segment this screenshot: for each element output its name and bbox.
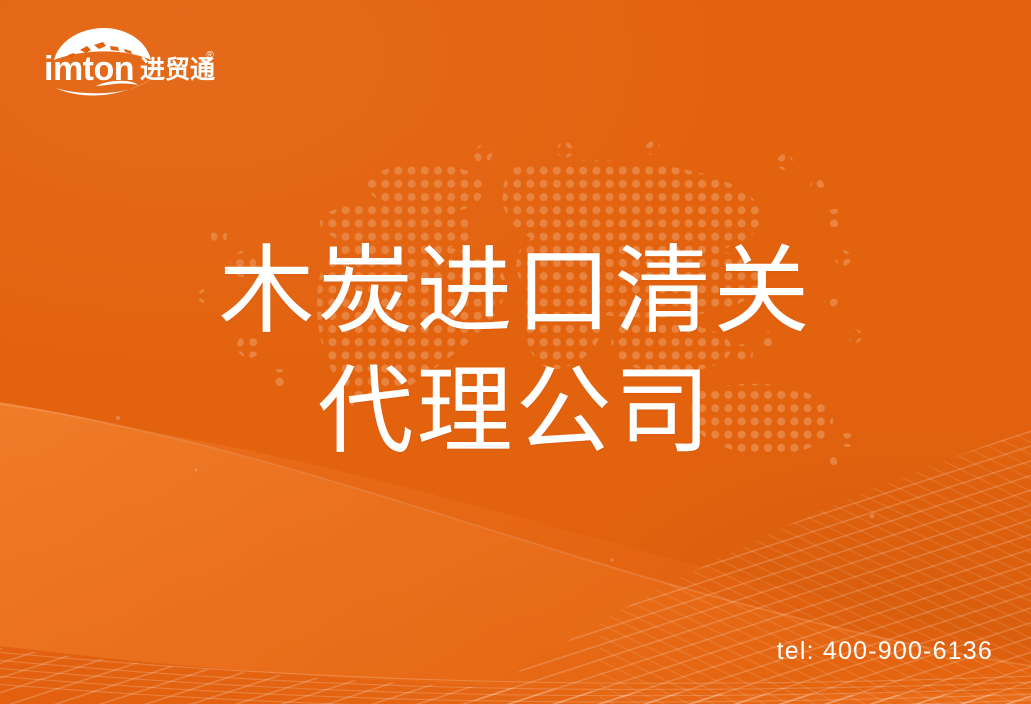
page-title-line-1: 木炭进口清关: [0, 232, 1031, 352]
brand-logo[interactable]: imton 进贸通 ® imton 进贸通: [38, 26, 218, 98]
page-title-line-2: 代理公司: [0, 352, 1031, 472]
logo-latin-text: imton: [44, 50, 134, 88]
poster-banner: imton 进贸通 ® imton 进贸通 木炭进口清关 代理公司 tel: 4…: [0, 0, 1031, 704]
registered-trademark-icon: ®: [206, 50, 214, 61]
logo-cn-text: 进贸通: [140, 56, 215, 84]
page-title: 木炭进口清关 代理公司: [0, 232, 1031, 472]
contact-phone[interactable]: tel: 400-900-6136: [777, 636, 993, 666]
